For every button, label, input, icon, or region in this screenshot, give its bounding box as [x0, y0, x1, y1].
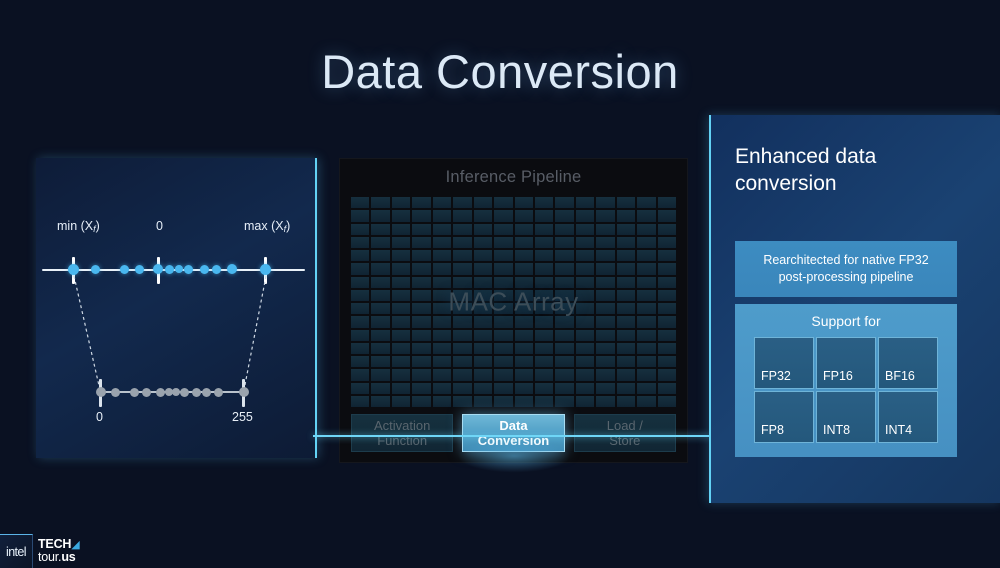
- mac-array-cell: [555, 383, 573, 394]
- mac-array-cell: [576, 330, 594, 341]
- format-tile-fp8: FP8: [754, 391, 814, 443]
- mac-array-cell: [596, 263, 614, 274]
- mac-array-cell: [576, 343, 594, 354]
- mac-array-cell: [474, 356, 492, 367]
- int-dot: [239, 387, 249, 397]
- details-heading: Enhanced data conversion: [735, 143, 984, 197]
- mac-array-cell: [555, 343, 573, 354]
- mac-array-cell: [392, 383, 410, 394]
- mac-array-cell: [576, 369, 594, 380]
- mac-array-cell: [555, 316, 573, 327]
- mac-array-cell: [576, 237, 594, 248]
- mac-array-cell: [371, 356, 389, 367]
- mac-array-cell: [637, 210, 655, 221]
- mac-array-cell: [535, 210, 553, 221]
- mac-array-cell: [617, 343, 635, 354]
- mac-array-cell: [515, 356, 533, 367]
- mac-array-cell: [658, 343, 676, 354]
- mac-array-cell: [474, 250, 492, 261]
- mac-array-cell: [617, 383, 635, 394]
- mac-array-cell: [392, 210, 410, 221]
- mac-array-cell: [453, 383, 471, 394]
- mac-array-cell: [433, 316, 451, 327]
- mac-array-cell: [515, 316, 533, 327]
- mac-array-cell: [515, 210, 533, 221]
- mac-array-cell: [658, 250, 676, 261]
- mac-array-cell: [617, 396, 635, 407]
- mac-array-cell: [555, 197, 573, 208]
- mac-array-cell: [351, 210, 369, 221]
- mac-array-cell: [412, 343, 430, 354]
- mac-array-cell: [494, 263, 512, 274]
- mac-array-cell: [555, 263, 573, 274]
- format-tile-int8: INT8: [816, 391, 876, 443]
- mac-array-cell: [433, 263, 451, 274]
- mac-array-cell: [555, 369, 573, 380]
- mac-array-cell: [392, 224, 410, 235]
- supported-formats-box: Support for FP32FP16BF16FP8INT8INT4: [735, 304, 957, 457]
- mac-array-cell: [515, 250, 533, 261]
- mac-array-cell: [474, 369, 492, 380]
- details-heading-line-1: Enhanced data: [735, 145, 876, 168]
- mac-array-cell: [658, 224, 676, 235]
- mac-array-cell: [371, 343, 389, 354]
- mac-array-cell: [555, 224, 573, 235]
- int-dot: [214, 388, 223, 397]
- label-int-255: 255: [232, 410, 253, 424]
- mac-array-cell: [433, 396, 451, 407]
- mac-array-cell: [596, 343, 614, 354]
- mac-array-cell: [453, 263, 471, 274]
- format-tile-label: FP16: [823, 369, 853, 383]
- mac-array-cell: [433, 356, 451, 367]
- int-dot: [130, 388, 139, 397]
- callout-line-2: post-processing pipeline: [779, 270, 914, 284]
- format-tile-fp32: FP32: [754, 337, 814, 389]
- int-dot: [202, 388, 211, 397]
- mac-array-cell: [658, 210, 676, 221]
- int-dot: [142, 388, 151, 397]
- mac-array-cell: [412, 224, 430, 235]
- mac-array-cell: [474, 396, 492, 407]
- mac-array-cell: [515, 369, 533, 380]
- mac-array-cell: [576, 396, 594, 407]
- mac-array-cell: [637, 343, 655, 354]
- mac-array-cell: [433, 210, 451, 221]
- mac-array-cell: [576, 383, 594, 394]
- mac-array-cell: [392, 330, 410, 341]
- mac-array-cell: [596, 330, 614, 341]
- mac-array-label: MAC Array: [351, 287, 676, 318]
- mac-array-cell: [494, 369, 512, 380]
- mac-array-cell: [617, 250, 635, 261]
- mac-array-cell: [515, 383, 533, 394]
- pipeline-block-activation-function[interactable]: Activation Function: [351, 414, 453, 452]
- mac-array-cell: [658, 356, 676, 367]
- mac-array-cell: [351, 250, 369, 261]
- tech-tour-logo-line-2: tour.us: [38, 551, 80, 563]
- mac-array-cell: [371, 396, 389, 407]
- mac-array-cell: [494, 343, 512, 354]
- mac-array-cell: [576, 316, 594, 327]
- mac-array-cell: [494, 383, 512, 394]
- mac-array-cell: [371, 383, 389, 394]
- mac-array-cell: [637, 224, 655, 235]
- mac-array-cell: [658, 316, 676, 327]
- mac-array-cell: [494, 197, 512, 208]
- supported-formats-title: Support for: [735, 313, 957, 329]
- mac-array-cell: [494, 316, 512, 327]
- mac-array-cell: [555, 356, 573, 367]
- mac-array-cell: [658, 330, 676, 341]
- mac-array-cell: [371, 263, 389, 274]
- int-dot: [192, 388, 201, 397]
- pipeline-block-load-store[interactable]: Load / Store: [574, 414, 676, 452]
- mac-array-cell: [351, 197, 369, 208]
- mac-array-cell: [515, 263, 533, 274]
- mac-array-cell: [392, 250, 410, 261]
- mac-array-cell: [617, 356, 635, 367]
- mac-array-cell: [412, 356, 430, 367]
- mac-array-cell: [617, 197, 635, 208]
- mac-array-cell: [617, 316, 635, 327]
- mac-array-cell: [371, 237, 389, 248]
- format-tile-int4: INT4: [878, 391, 938, 443]
- mac-array-cell: [433, 383, 451, 394]
- mac-array-cell: [474, 197, 492, 208]
- mac-array-cell: [494, 396, 512, 407]
- mac-array-cell: [474, 330, 492, 341]
- mac-array-cell: [453, 224, 471, 235]
- mac-array-cell: [371, 250, 389, 261]
- format-tile-label: INT8: [823, 423, 850, 437]
- mac-array-cell: [617, 330, 635, 341]
- mac-array-cell: [474, 383, 492, 394]
- mac-array-cell: [535, 263, 553, 274]
- mac-array-cell: [433, 224, 451, 235]
- mac-array-cell: [515, 396, 533, 407]
- label-int-zero: 0: [96, 410, 103, 424]
- mac-array-cell: [535, 224, 553, 235]
- mac-array-cell: [371, 330, 389, 341]
- pipeline-stage-row: Activation Function Data Conversion Load…: [351, 414, 676, 452]
- mac-array-cell: [412, 396, 430, 407]
- mac-array-cell: [351, 396, 369, 407]
- mac-array-cell: [474, 263, 492, 274]
- mac-array-cell: [453, 343, 471, 354]
- mac-array-cell: [535, 396, 553, 407]
- mac-array-cell: [392, 316, 410, 327]
- quantization-panel: min (Xf) 0 max (Xf): [36, 158, 317, 458]
- format-tile-label: INT4: [885, 423, 912, 437]
- mac-array-cell: [433, 330, 451, 341]
- mac-array-cell: [351, 224, 369, 235]
- mac-array-cell: [555, 330, 573, 341]
- mac-array-cell: [494, 250, 512, 261]
- mac-array-cell: [494, 224, 512, 235]
- mac-array-cell: [555, 396, 573, 407]
- mac-array-cell: [535, 197, 553, 208]
- mac-array-cell: [371, 369, 389, 380]
- mac-array-cell: [412, 330, 430, 341]
- mac-array-cell: [494, 330, 512, 341]
- details-heading-line-2: conversion: [735, 172, 837, 195]
- panel-connector-line: [313, 435, 711, 437]
- mac-array-cell: [453, 396, 471, 407]
- mac-array-cell: [453, 369, 471, 380]
- mac-array-cell: [658, 369, 676, 380]
- mac-array-cell: [351, 383, 369, 394]
- mac-array-cell: [555, 237, 573, 248]
- pipeline-block-data-conversion[interactable]: Data Conversion: [462, 414, 564, 452]
- mac-array-cell: [555, 210, 573, 221]
- slide-root: Data Conversion min (Xf) 0 max (Xf): [0, 0, 1000, 568]
- activation-line-1: Activation: [374, 418, 430, 433]
- mac-array-cell: [637, 330, 655, 341]
- mac-array-cell: [596, 396, 614, 407]
- mac-array-cell: [535, 343, 553, 354]
- mac-array-cell: [637, 316, 655, 327]
- format-tile-label: BF16: [885, 369, 915, 383]
- mac-array-cell: [412, 237, 430, 248]
- mac-array-cell: [433, 197, 451, 208]
- format-tile-label: FP8: [761, 423, 784, 437]
- tech-tour-logo: TECH◢ tour.us: [38, 538, 80, 563]
- mac-array-cell: [637, 250, 655, 261]
- mac-array-cell: [433, 343, 451, 354]
- mac-array-cell: [351, 356, 369, 367]
- mac-array-cell: [351, 330, 369, 341]
- mac-array-cell: [433, 237, 451, 248]
- mac-array-cell: [453, 237, 471, 248]
- mac-array-cell: [617, 237, 635, 248]
- format-tile-fp16: FP16: [816, 337, 876, 389]
- mac-array-cell: [535, 383, 553, 394]
- intel-logo: intel: [0, 534, 33, 568]
- mac-array-cell: [515, 330, 533, 341]
- mac-array-cell: [596, 237, 614, 248]
- mac-array-cell: [535, 369, 553, 380]
- mac-array-cell: [453, 316, 471, 327]
- mac-array-cell: [351, 343, 369, 354]
- mac-array-cell: [617, 369, 635, 380]
- mac-array-cell: [474, 224, 492, 235]
- mac-array-cell: [371, 316, 389, 327]
- int-dot: [156, 388, 165, 397]
- mac-array-cell: [371, 210, 389, 221]
- mac-array-cell: [433, 369, 451, 380]
- mac-array-cell: [596, 356, 614, 367]
- format-tile-label: FP32: [761, 369, 791, 383]
- mac-array-cell: [412, 316, 430, 327]
- mac-array-cell: [596, 210, 614, 221]
- mac-array-cell: [637, 396, 655, 407]
- mac-array-cell: [494, 237, 512, 248]
- mac-array-cell: [576, 250, 594, 261]
- mac-array-cell: [637, 383, 655, 394]
- callout-rearchitected: Rearchitected for native FP32 post-proce…: [735, 241, 957, 297]
- mac-array-cell: [596, 369, 614, 380]
- mac-array-cell: [474, 237, 492, 248]
- mac-array-cell: [494, 210, 512, 221]
- mac-array-cell: [555, 250, 573, 261]
- mac-array-cell: [515, 237, 533, 248]
- mac-array-cell: [535, 356, 553, 367]
- mac-array: MAC Array: [351, 197, 676, 407]
- mac-array-cell: [617, 224, 635, 235]
- int-dot: [172, 388, 180, 396]
- mac-array-cell: [412, 369, 430, 380]
- mac-array-cell: [576, 356, 594, 367]
- mac-array-cell: [392, 263, 410, 274]
- mac-array-cell: [596, 197, 614, 208]
- mac-array-cell: [576, 210, 594, 221]
- int-dot: [111, 388, 120, 397]
- mac-array-cell: [474, 343, 492, 354]
- mac-array-cell: [658, 263, 676, 274]
- mac-array-cell: [412, 210, 430, 221]
- mac-array-cell: [412, 383, 430, 394]
- format-tile-bf16: BF16: [878, 337, 938, 389]
- mac-array-cell: [453, 250, 471, 261]
- mac-array-cell: [453, 210, 471, 221]
- mac-array-cell: [392, 343, 410, 354]
- inference-pipeline-panel: Inference Pipeline MAC Array Activation …: [339, 158, 688, 463]
- mac-array-cell: [474, 316, 492, 327]
- int-dot: [180, 388, 189, 397]
- mac-array-cell: [494, 356, 512, 367]
- details-panel: Enhanced data conversion Rearchitected f…: [709, 115, 1000, 503]
- mac-array-cell: [371, 197, 389, 208]
- mac-array-cell: [576, 197, 594, 208]
- mac-array-cell: [596, 250, 614, 261]
- mac-array-cell: [637, 197, 655, 208]
- mac-array-cell: [617, 210, 635, 221]
- mac-array-cell: [412, 263, 430, 274]
- mac-array-cell: [392, 396, 410, 407]
- mac-array-cell: [392, 356, 410, 367]
- mac-array-cell: [453, 356, 471, 367]
- mac-array-cell: [351, 369, 369, 380]
- mac-array-cell: [351, 316, 369, 327]
- mac-array-cell: [535, 330, 553, 341]
- mac-array-cell: [392, 237, 410, 248]
- mac-array-cell: [515, 197, 533, 208]
- mac-array-cell: [596, 383, 614, 394]
- mac-array-cell: [637, 263, 655, 274]
- callout-line-1: Rearchitected for native FP32: [763, 253, 928, 267]
- mac-array-cell: [637, 356, 655, 367]
- mac-array-cell: [658, 197, 676, 208]
- mac-array-cell: [617, 263, 635, 274]
- mac-array-cell: [596, 316, 614, 327]
- mac-array-cell: [392, 197, 410, 208]
- mac-array-cell: [535, 250, 553, 261]
- page-title: Data Conversion: [0, 44, 1000, 99]
- mac-array-cell: [515, 343, 533, 354]
- mac-array-cell: [637, 369, 655, 380]
- mac-array-cell: [658, 237, 676, 248]
- conversion-line-1: Data: [499, 418, 527, 433]
- int-dot: [96, 387, 106, 397]
- mac-array-cell: [658, 396, 676, 407]
- mac-array-cell: [392, 369, 410, 380]
- mac-array-cell: [535, 237, 553, 248]
- mac-array-cell: [453, 197, 471, 208]
- mac-array-cell: [412, 197, 430, 208]
- quantization-mapping-lines: [36, 158, 315, 458]
- mac-array-cell: [576, 224, 594, 235]
- supported-formats-grid: FP32FP16BF16FP8INT8INT4: [754, 337, 938, 443]
- mac-array-cell: [474, 210, 492, 221]
- intel-logo-text: intel: [6, 545, 26, 559]
- pipeline-title: Inference Pipeline: [340, 168, 687, 187]
- mac-array-cell: [637, 237, 655, 248]
- mac-array-cell: [453, 330, 471, 341]
- mac-array-cell: [351, 263, 369, 274]
- mac-array-cell: [351, 237, 369, 248]
- mac-array-cell: [371, 224, 389, 235]
- mac-array-cell: [433, 250, 451, 261]
- mac-array-cell: [576, 263, 594, 274]
- load-line-1: Load /: [607, 418, 643, 433]
- mac-array-cell: [596, 224, 614, 235]
- mac-array-cell: [535, 316, 553, 327]
- mac-array-cell: [412, 250, 430, 261]
- mac-array-cell: [515, 224, 533, 235]
- mac-array-cell: [658, 383, 676, 394]
